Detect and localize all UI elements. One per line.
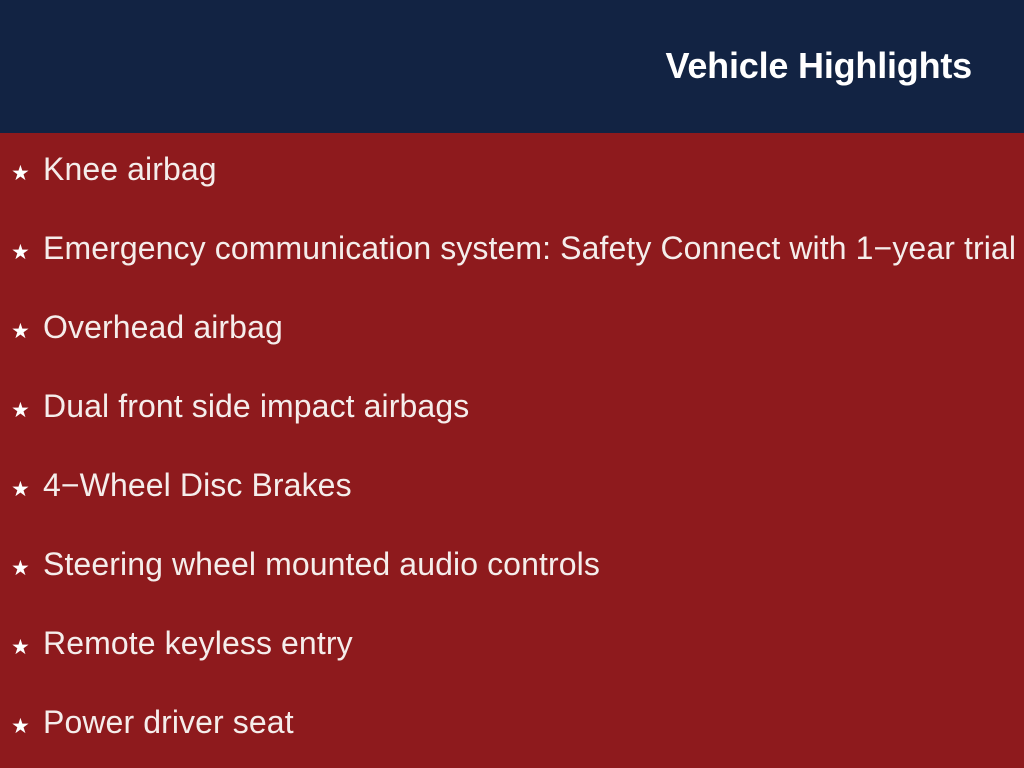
- list-item-label: Overhead airbag: [43, 309, 283, 346]
- list-item-label: 4−Wheel Disc Brakes: [43, 467, 352, 504]
- star-bullet-icon: ★: [11, 155, 31, 192]
- page-title: Vehicle Highlights: [666, 44, 972, 88]
- list-item-label: Power driver seat: [43, 704, 294, 741]
- vehicle-highlights-slide: Vehicle Highlights ★ Knee airbag ★ Emerg…: [0, 0, 1024, 768]
- star-bullet-icon: ★: [11, 629, 31, 666]
- list-item-label: Steering wheel mounted audio controls: [43, 546, 600, 583]
- star-bullet-icon: ★: [11, 392, 31, 429]
- list-item: ★ Emergency communication system: Safety…: [0, 230, 1024, 309]
- list-item: ★ Overhead airbag: [0, 309, 1024, 388]
- star-bullet-icon: ★: [11, 313, 31, 350]
- list-item-label: Remote keyless entry: [43, 625, 353, 662]
- list-item: ★ Knee airbag: [0, 151, 1024, 230]
- vehicle-highlights-list: ★ Knee airbag ★ Emergency communication …: [0, 133, 1024, 768]
- star-bullet-icon: ★: [11, 708, 31, 745]
- star-bullet-icon: ★: [11, 550, 31, 587]
- list-item: ★ Steering wheel mounted audio controls: [0, 546, 1024, 625]
- list-item-label: Dual front side impact airbags: [43, 388, 469, 425]
- list-item-label: Emergency communication system: Safety C…: [43, 230, 1016, 267]
- slide-header-band: Vehicle Highlights: [0, 0, 1024, 133]
- list-item: ★ Dual front side impact airbags: [0, 388, 1024, 467]
- list-item: ★ Power driver seat: [0, 704, 1024, 768]
- star-bullet-icon: ★: [11, 471, 31, 508]
- list-item-label: Knee airbag: [43, 151, 217, 188]
- slide-body: ★ Knee airbag ★ Emergency communication …: [0, 133, 1024, 768]
- list-item: ★ Remote keyless entry: [0, 625, 1024, 704]
- list-item: ★ 4−Wheel Disc Brakes: [0, 467, 1024, 546]
- star-bullet-icon: ★: [11, 234, 31, 271]
